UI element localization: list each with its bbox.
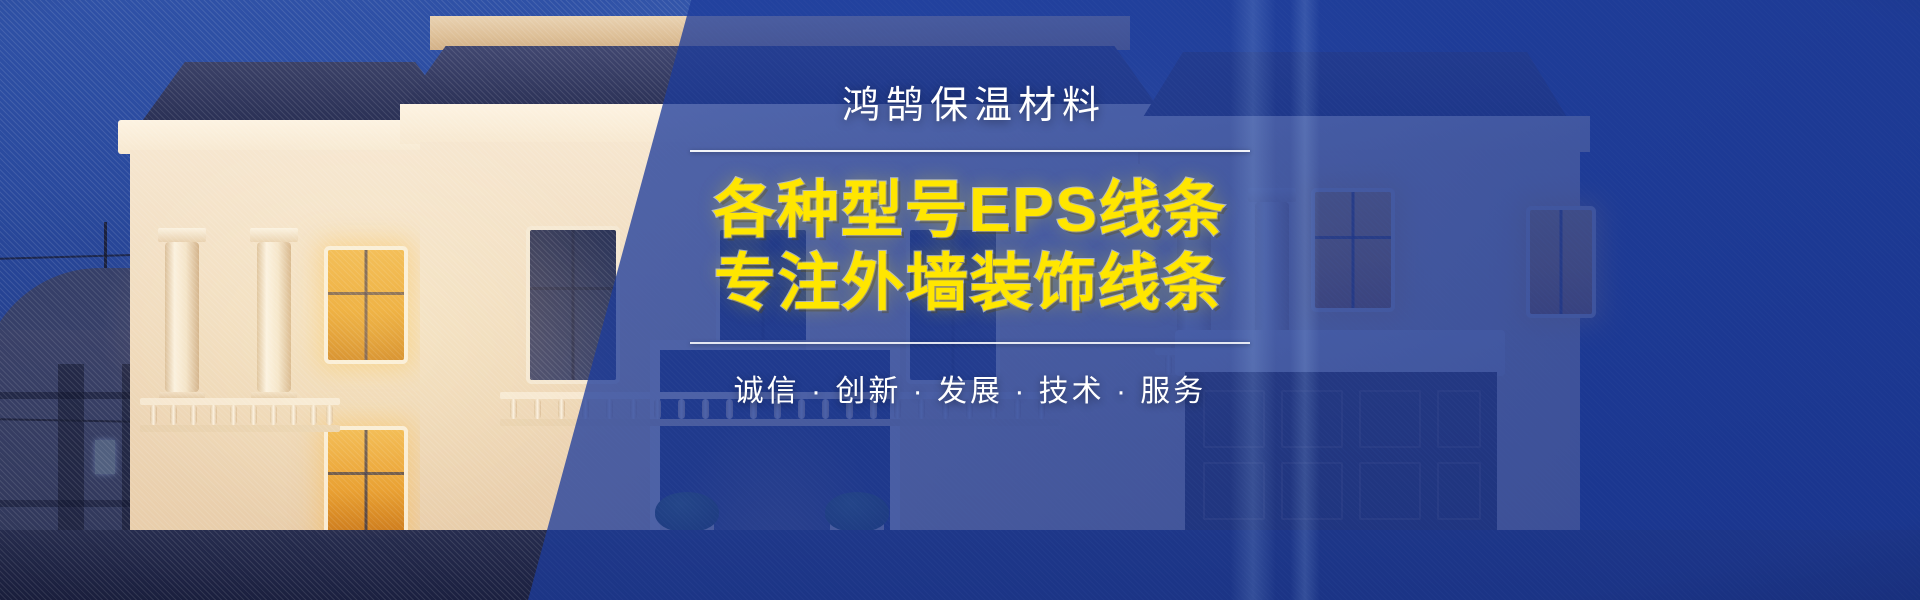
tagline: 诚信 · 创新 · 发展 · 技术 · 服务	[690, 366, 1250, 410]
shrub	[825, 492, 889, 532]
lit-window	[328, 250, 404, 360]
balustrade	[140, 398, 340, 432]
shrub	[655, 492, 719, 532]
lit-window	[1315, 192, 1391, 308]
center-roof-cap	[430, 16, 1130, 50]
ground	[0, 530, 1920, 600]
window	[530, 230, 616, 380]
divider-top	[690, 150, 1250, 152]
headline-line-2: 专注外墙装饰线条	[690, 251, 1250, 318]
column	[257, 242, 291, 392]
brand-name: 鸿鹄保温材料	[690, 86, 1250, 128]
lit-window	[328, 430, 404, 540]
column	[1255, 202, 1289, 342]
column	[165, 242, 199, 392]
headline-line-1: 各种型号EPS线条	[690, 178, 1250, 245]
promo-banner: 鸿鹄保温材料 各种型号EPS线条 专注外墙装饰线条 诚信 · 创新 · 发展 ·…	[0, 0, 1920, 600]
divider-bottom	[690, 342, 1250, 344]
lit-window	[1530, 210, 1592, 314]
banner-text-block: 鸿鹄保温材料 各种型号EPS线条 专注外墙装饰线条 诚信 · 创新 · 发展 ·…	[690, 86, 1250, 410]
